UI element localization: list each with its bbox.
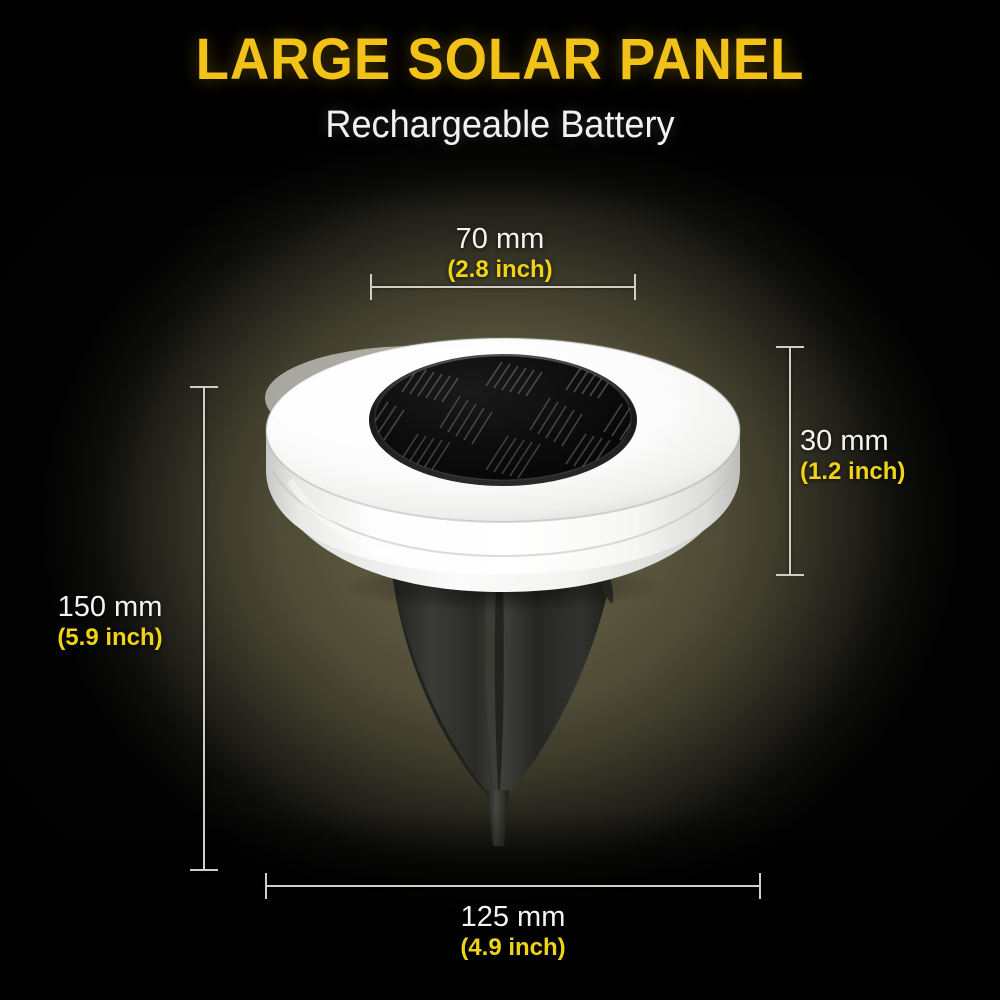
dimension-line: [265, 885, 761, 887]
dimension-end-cap: [776, 574, 804, 576]
dimension-value-mm: 30 mm: [800, 424, 980, 458]
dimension-end-cap: [190, 386, 218, 388]
dimension-value-inch: (1.2 inch): [800, 458, 980, 486]
dimension-value-inch: (4.9 inch): [400, 934, 626, 962]
page-title: LARGE SOLAR PANEL: [30, 26, 970, 93]
dimension-value-inch: (2.8 inch): [390, 256, 610, 284]
dimension-value-mm: 70 mm: [390, 222, 610, 256]
dimension-end-cap: [190, 869, 218, 871]
dimension-line: [789, 346, 791, 576]
dimension-end-cap: [265, 873, 267, 899]
dimension-end-cap: [370, 274, 372, 300]
page-subtitle: Rechargeable Battery: [25, 104, 975, 147]
dimension-value-mm: 125 mm: [400, 900, 626, 934]
dimension-end-cap: [776, 346, 804, 348]
infographic-canvas: LARGE SOLAR PANEL Rechargeable Battery 7…: [0, 0, 1000, 1000]
dimension-line: [370, 286, 636, 288]
dimension-line: [203, 386, 205, 871]
dimension-value-mm: 150 mm: [20, 590, 200, 624]
dimension-value-inch: (5.9 inch): [20, 624, 200, 652]
dimension-end-cap: [634, 274, 636, 300]
dimension-end-cap: [759, 873, 761, 899]
